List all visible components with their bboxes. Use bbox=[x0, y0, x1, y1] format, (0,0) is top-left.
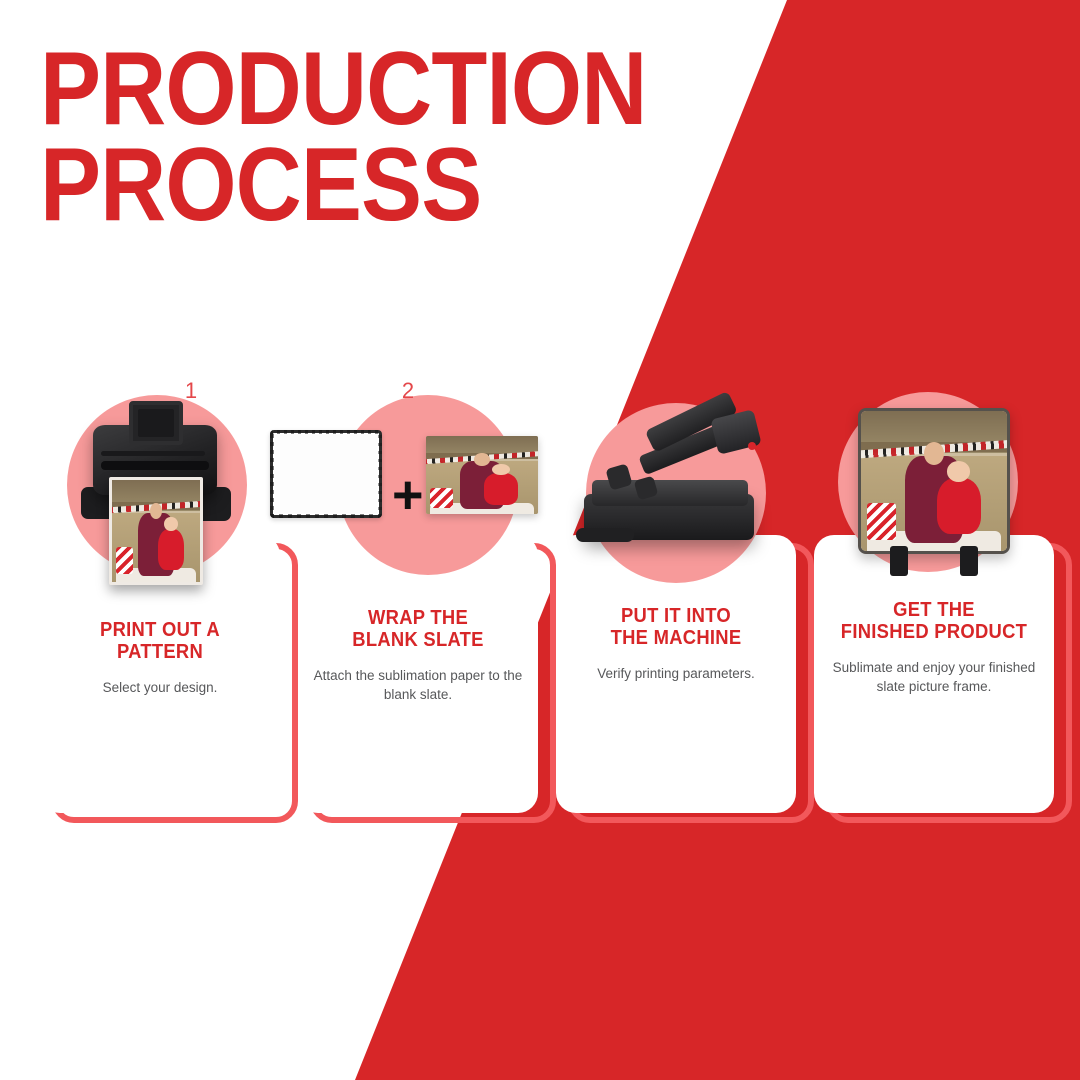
card-title-4: GET THE FINISHED PRODUCT bbox=[833, 599, 1035, 644]
card-description-4: Sublimate and enjoy your finished slate … bbox=[824, 658, 1044, 697]
slate-stand-left bbox=[890, 546, 908, 576]
finished-slate-photo bbox=[858, 408, 1010, 554]
photo-printer-illustration bbox=[67, 395, 257, 595]
card-title-3: PUT IT INTO THE MACHINE bbox=[575, 605, 777, 650]
plus-operator: + bbox=[392, 468, 424, 522]
card-description-3: Verify printing parameters. bbox=[566, 664, 786, 684]
blank-slate-plus-photo-illustration: + bbox=[278, 388, 568, 578]
card-description-2: Attach the sublimation paper to the blan… bbox=[308, 666, 528, 705]
heat-press-illustration bbox=[572, 408, 782, 568]
card-title-1: PRINT OUT A PATTERN bbox=[59, 619, 261, 664]
card-description-1: Select your design. bbox=[50, 678, 270, 698]
title-line-2: PROCESS bbox=[40, 138, 646, 234]
slate-stand-right bbox=[960, 546, 978, 576]
step-card-2[interactable]: 2 + WRAP THE BLANK SLATE bbox=[298, 378, 556, 828]
infographic-canvas: PRODUCTION PROCESS 1 bbox=[0, 0, 1080, 1080]
step-card-4[interactable]: 4 GET THE FINISHED PRODUCT bbox=[814, 378, 1072, 828]
card-title-2: WRAP THE BLANK SLATE bbox=[317, 607, 519, 652]
title-line-1: PRODUCTION bbox=[40, 42, 646, 138]
step-card-1[interactable]: 1 bbox=[40, 378, 298, 828]
step-card-3[interactable]: 3 PUT IT INTO THE MACHINE Verify printin… bbox=[556, 378, 814, 828]
page-title: PRODUCTION PROCESS bbox=[40, 42, 729, 233]
finished-slate-illustration bbox=[838, 392, 1028, 592]
sublimation-paper-photo bbox=[426, 436, 538, 514]
blank-slate-image bbox=[270, 430, 382, 518]
